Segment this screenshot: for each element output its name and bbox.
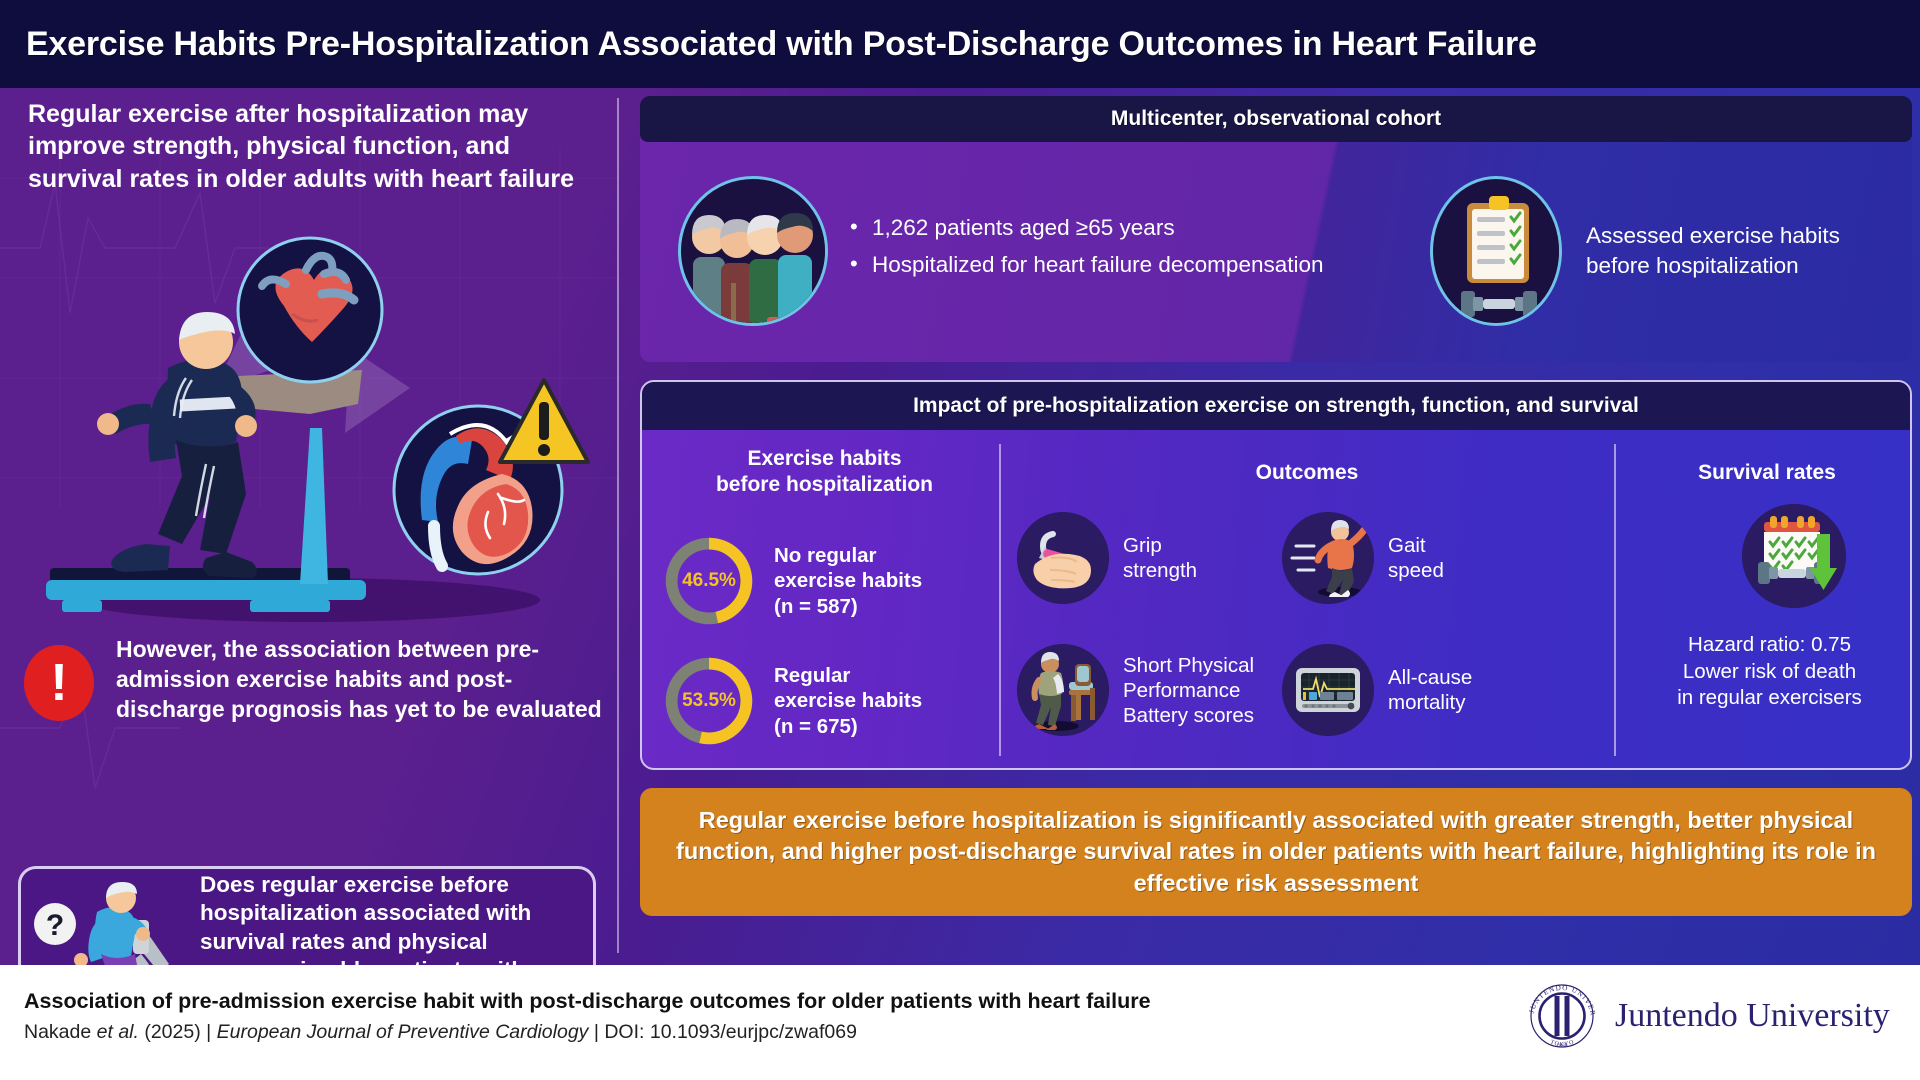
outcome-label-line2: strength: [1123, 558, 1197, 583]
title-bar: Exercise Habits Pre-Hospitalization Asso…: [0, 0, 1920, 88]
outcome-label-line1: All-cause: [1388, 665, 1472, 690]
column-title-exercise-habits: Exercise habitsbefore hospitalization: [662, 446, 987, 499]
research-question-text: Does regular exercise before hospitaliza…: [200, 871, 577, 965]
logo-year-text: 1838: [1556, 1043, 1567, 1049]
chair-stand-test-icon: [1017, 644, 1109, 736]
infographic-root: Exercise Habits Pre-Hospitalization Asso…: [0, 0, 1920, 1080]
habit-label-line2: exercise habits: [774, 688, 922, 713]
donut-chart-regular: 53.5%: [662, 654, 756, 748]
footer: Association of pre-admission exercise ha…: [0, 965, 1920, 1080]
outcome-label-line3: Battery scores: [1123, 703, 1254, 728]
calendar-dumbbell-down-arrow-icon: [1742, 504, 1846, 608]
results-header: Impact of pre-hospitalization exercise o…: [642, 382, 1910, 430]
habit-label-line3: (n = 587): [774, 594, 922, 619]
habit-label-line2: exercise habits: [774, 568, 922, 593]
outcome-label-line1: Short Physical: [1123, 653, 1254, 678]
outcome-label-line2: Performance: [1123, 678, 1254, 703]
patient-monitor-icon: [1282, 644, 1374, 736]
outcome-label-sppb: Short Physical Performance Battery score…: [1123, 653, 1254, 728]
survival-line1: Hazard ratio: 0.75: [1627, 632, 1912, 659]
conclusion-text: Regular exercise before hospitalization …: [674, 805, 1878, 898]
question-treadmill-icon: ?: [29, 872, 194, 965]
citation-year: (2025): [139, 1021, 201, 1043]
citation-doi: DOI: 10.1093/eurjpc/zwaf069: [604, 1021, 857, 1043]
habit-label-line1: Regular: [774, 663, 922, 688]
lead-statement: Regular exercise after hospitalization m…: [28, 98, 588, 195]
outcome-all-cause-mortality: All-cause mortality: [1282, 644, 1472, 736]
right-column: Multicenter, observational cohort: [640, 88, 1912, 965]
cohort-population-group: 1,262 patients aged ≥65 years Hospitaliz…: [678, 151, 1378, 351]
cohort-assessment-group: Assessed exercise habits before hospital…: [1430, 151, 1900, 351]
outcome-label-line1: Grip: [1123, 533, 1197, 558]
article-title: Association of pre-admission exercise ha…: [24, 989, 1151, 1014]
outcome-label-all-cause-mortality: All-cause mortality: [1388, 665, 1472, 715]
treadmill-heart-illustration: [10, 228, 610, 628]
citation-journal: European Journal of Preventive Cardiolog…: [217, 1021, 589, 1043]
outcome-label-grip-strength: Grip strength: [1123, 533, 1197, 583]
column-title-outcomes: Outcomes: [1012, 460, 1602, 486]
habit-row-regular: 53.5% Regular exercise habits (n = 675): [662, 654, 922, 748]
outcome-grip-strength: Grip strength: [1017, 512, 1197, 604]
research-question-card: ?: [18, 866, 596, 965]
citation-sep1: |: [201, 1021, 217, 1043]
survival-line3: in regular exercisers: [1627, 685, 1912, 712]
outcome-gait-speed: Gait speed: [1282, 512, 1444, 604]
habit-row-no-regular: 46.5% No regular exercise habits (n = 58…: [662, 534, 922, 628]
results-divider-2: [1614, 444, 1616, 756]
caution-row: ! However, the association between pre-a…: [24, 633, 604, 725]
cohort-assessment-text: Assessed exercise habits before hospital…: [1586, 221, 1900, 282]
donut-chart-no-regular: 46.5%: [662, 534, 756, 628]
habit-label-no-regular: No regular exercise habits (n = 587): [774, 543, 922, 619]
citation-sep2: |: [588, 1021, 604, 1043]
results-section: Impact of pre-hospitalization exercise o…: [640, 380, 1912, 770]
juntendo-logo: JUNTENDO UNIVERSITY TOKYO 1838 Juntendo …: [1523, 977, 1890, 1055]
list-item: Hospitalized for heart failure decompens…: [850, 251, 1324, 280]
habit-label-line3: (n = 675): [774, 714, 922, 739]
citation-etal: et al.: [97, 1021, 139, 1043]
cohort-bullet-list: 1,262 patients aged ≥65 years Hospitaliz…: [850, 214, 1324, 288]
donut-value-regular: 53.5%: [662, 654, 756, 748]
outcome-sppb: Short Physical Performance Battery score…: [1017, 644, 1254, 736]
caution-statement: However, the association between pre-adm…: [116, 633, 604, 725]
conclusion-banner: Regular exercise before hospitalization …: [640, 788, 1912, 916]
left-column: Regular exercise after hospitalization m…: [0, 88, 617, 965]
svg-text:JUNTENDO UNIVERSITY: JUNTENDO UNIVERSITY: [1523, 977, 1597, 1017]
svg-text:?: ?: [46, 909, 64, 942]
cohort-section: Multicenter, observational cohort: [640, 96, 1912, 362]
exclamation-glyph: !: [50, 657, 67, 709]
results-divider-1: [999, 444, 1001, 756]
column-title-survival: Survival rates: [1632, 460, 1902, 486]
hand-grip-dynamometer-icon: [1017, 512, 1109, 604]
survival-summary-text: Hazard ratio: 0.75 Lower risk of death i…: [1627, 632, 1912, 712]
elderly-patients-icon: [678, 176, 828, 326]
clipboard-dumbbell-icon: [1430, 176, 1562, 326]
page-title: Exercise Habits Pre-Hospitalization Asso…: [26, 25, 1537, 64]
infographic-canvas: Regular exercise after hospitalization m…: [0, 88, 1920, 965]
list-item: 1,262 patients aged ≥65 years: [850, 214, 1324, 243]
habit-label-regular: Regular exercise habits (n = 675): [774, 663, 922, 739]
article-citation: Nakade et al. (2025) | European Journal …: [24, 1021, 857, 1044]
outcome-label-line2: mortality: [1388, 690, 1472, 715]
habit-label-line1: No regular: [774, 543, 922, 568]
survival-line2: Lower risk of death: [1627, 659, 1912, 686]
results-header-label: Impact of pre-hospitalization exercise o…: [913, 394, 1639, 418]
outcome-label-line1: Gait: [1388, 533, 1444, 558]
exclamation-icon: !: [24, 645, 94, 721]
outcome-label-line2: speed: [1388, 558, 1444, 583]
donut-value-no-regular: 46.5%: [662, 534, 756, 628]
cohort-header-label: Multicenter, observational cohort: [1111, 107, 1441, 131]
column-divider: [617, 98, 619, 953]
logo-name: Juntendo University: [1615, 997, 1890, 1035]
outcome-label-gait-speed: Gait speed: [1388, 533, 1444, 583]
citation-authors: Nakade: [24, 1021, 97, 1043]
running-senior-icon: [1282, 512, 1374, 604]
cohort-header: Multicenter, observational cohort: [640, 96, 1912, 142]
logo-ring-top-text: JUNTENDO UNIVERSITY: [1523, 977, 1597, 1017]
juntendo-seal-icon: JUNTENDO UNIVERSITY TOKYO 1838: [1523, 977, 1601, 1055]
